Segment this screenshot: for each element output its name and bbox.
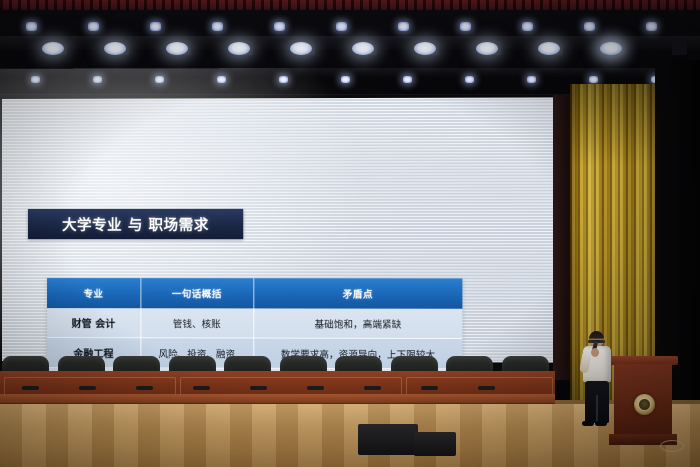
ceiling-spotlight	[228, 42, 250, 55]
ceiling-led-light	[279, 76, 288, 83]
ceiling-led-light	[403, 76, 412, 83]
presenter-trousers	[585, 381, 609, 423]
floor-cable	[660, 440, 684, 452]
ceiling-led-light	[589, 76, 598, 83]
institution-emblem	[634, 394, 655, 415]
podium	[612, 356, 674, 448]
light-fixture	[672, 38, 687, 55]
ceiling-led-light	[212, 22, 223, 31]
ceiling-led-light	[88, 22, 99, 31]
presenter-hand	[591, 348, 599, 357]
slide-title: 大学专业 与 职场需求	[62, 213, 209, 234]
table-header-row: 专业 一句话概括 矛盾点	[47, 278, 462, 309]
table-microphone	[136, 386, 153, 390]
table-microphone	[193, 386, 210, 390]
ceiling-led-light	[274, 22, 285, 31]
table-microphone	[421, 386, 438, 390]
floor-monitor-speaker	[358, 424, 418, 455]
ceiling-led-light	[93, 76, 102, 83]
ceiling-spotlight	[166, 42, 188, 55]
presenter-shoe	[595, 421, 607, 426]
table-header-summary: 一句话概括	[140, 278, 253, 308]
podium-body	[614, 364, 672, 436]
ceiling-led-light	[646, 22, 657, 31]
cell-conflict: 基础饱和，高端紧缺	[253, 308, 462, 338]
table-microphone	[478, 386, 495, 390]
presenter-shoe	[582, 421, 594, 426]
ceiling-led-light	[584, 22, 595, 31]
table-row: 财管 会计 管钱、核账 基础饱和，高端紧缺	[47, 308, 462, 338]
table-microphone	[364, 386, 381, 390]
table-microphone	[22, 386, 39, 390]
slide-content: 大学专业 与 职场需求 专业 一句话概括 矛盾点 财管 会计 管钱、核账 基础饱…	[2, 97, 561, 362]
slide-title-banner: 大学专业 与 职场需求	[28, 209, 243, 239]
ceiling-led-light	[465, 76, 474, 83]
ceiling-led-light	[155, 76, 164, 83]
conference-table-top	[0, 394, 555, 403]
ceiling-spotlight	[600, 42, 622, 55]
cell-summary: 管钱、核账	[140, 308, 253, 338]
table-header-major: 专业	[47, 278, 140, 308]
table-microphone	[79, 386, 96, 390]
ceiling-spotlight	[414, 42, 436, 55]
ceiling-spotlight	[476, 42, 498, 55]
ceiling-spotlight	[290, 42, 312, 55]
table-header-conflict: 矛盾点	[253, 278, 462, 309]
ceiling-led-light	[336, 22, 347, 31]
ceiling-spotlight	[538, 42, 560, 55]
ceiling-spotlight	[104, 42, 126, 55]
ceiling-led-light	[527, 76, 536, 83]
ceiling-led-light	[460, 22, 471, 31]
ceiling-led-light	[26, 22, 37, 31]
ceiling-led-light	[522, 22, 533, 31]
table-microphone	[307, 386, 324, 390]
ceiling-spotlight	[352, 42, 374, 55]
floor-monitor-speaker	[414, 432, 456, 456]
projection-screen: 大学专业 与 职场需求 专业 一句话概括 矛盾点 财管 会计 管钱、核账 基础饱…	[2, 97, 561, 362]
ceiling-led-light	[341, 76, 350, 83]
ceiling-spotlight	[42, 42, 64, 55]
ceiling-led-light	[150, 22, 161, 31]
auditorium-scene: 大学专业 与 职场需求 专业 一句话概括 矛盾点 财管 会计 管钱、核账 基础饱…	[0, 0, 700, 467]
ceiling-led-light	[31, 76, 40, 83]
ceiling-led-light	[217, 76, 226, 83]
cell-major: 财管 会计	[47, 308, 140, 338]
presenter	[578, 331, 614, 429]
table-microphone	[250, 386, 267, 390]
ceiling-led-light	[398, 22, 409, 31]
